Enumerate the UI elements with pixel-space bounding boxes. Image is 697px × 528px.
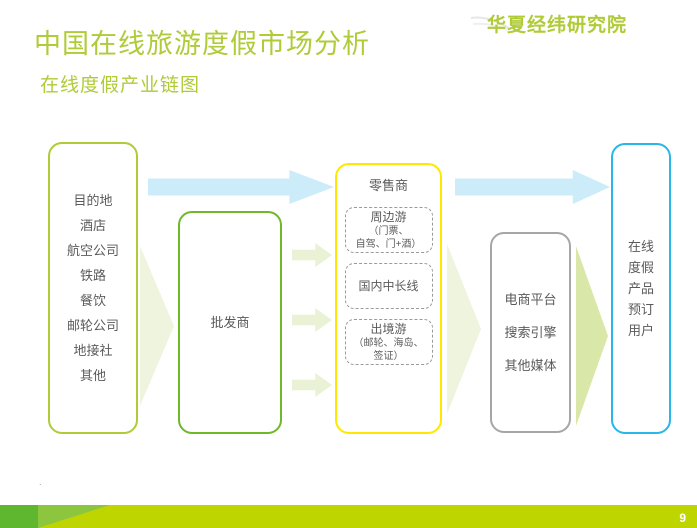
slide-canvas: 中国在线旅游度假市场分析 在线度假产业链图 华夏经纬研究院 目的地 酒店 航空公… bbox=[0, 0, 697, 528]
flow-arrow-retailers-to-users bbox=[455, 170, 610, 204]
chevron-retailers-to-channels-icon bbox=[447, 244, 481, 414]
wholesaler-label: 批发商 bbox=[210, 311, 249, 335]
supplier-item-ground-agency: 地接社 bbox=[73, 338, 112, 363]
retailer-segment-around-trip[interactable]: 周边游 （门票、 自驾、门+酒） bbox=[345, 207, 433, 253]
footer-wedge-dark bbox=[0, 505, 38, 528]
supplier-item-catering: 餐饮 bbox=[80, 288, 106, 313]
user-label-line-5: 用户 bbox=[628, 320, 654, 341]
node-channels[interactable]: 电商平台 搜索引擎 其他媒体 bbox=[490, 232, 571, 433]
arrow-wholesaler-to-outbound-icon bbox=[292, 373, 332, 397]
segment-around-trip-label: 周边游 bbox=[370, 209, 406, 225]
retailer-segment-outbound[interactable]: 出境游 （邮轮、海岛、 签证） bbox=[345, 319, 433, 365]
channel-item-ecommerce-platform: 电商平台 bbox=[504, 283, 556, 316]
user-label-line-4: 预订 bbox=[628, 299, 654, 320]
segment-around-trip-detail-2: 自驾、门+酒） bbox=[356, 238, 422, 251]
brand-logo-text: 华夏经纬研究院 bbox=[487, 10, 627, 37]
user-label-line-1: 在线 bbox=[628, 236, 654, 257]
node-retailers[interactable]: 零售商 周边游 （门票、 自驾、门+酒） 国内中长线 出境游 （邮轮、海岛、 签… bbox=[335, 163, 442, 434]
supplier-item-other: 其他 bbox=[80, 363, 106, 388]
supplier-item-hotel: 酒店 bbox=[80, 213, 106, 238]
retailer-segment-domestic-longhaul[interactable]: 国内中长线 bbox=[345, 263, 433, 309]
retailer-title: 零售商 bbox=[369, 175, 408, 194]
segment-outbound-label: 出境游 bbox=[370, 321, 406, 337]
chevron-channels-to-users-icon bbox=[576, 246, 608, 426]
user-label-line-3: 产品 bbox=[628, 278, 654, 299]
segment-outbound-detail-1: （邮轮、海岛、 bbox=[354, 337, 424, 350]
page-title: 中国在线旅游度假市场分析 bbox=[34, 22, 370, 61]
slide-corner-mark: . bbox=[39, 477, 42, 487]
supplier-item-railway: 铁路 bbox=[80, 263, 106, 288]
supplier-item-cruise: 邮轮公司 bbox=[67, 313, 119, 338]
page-number: 9 bbox=[679, 511, 686, 525]
chevron-suppliers-to-wholesalers-icon bbox=[140, 246, 174, 406]
supplier-item-airline: 航空公司 bbox=[67, 238, 119, 263]
arrow-wholesaler-to-domestic-icon bbox=[292, 308, 332, 332]
channel-item-other-media: 其他媒体 bbox=[504, 349, 556, 382]
supplier-item-destination: 目的地 bbox=[73, 188, 112, 213]
arrow-wholesaler-to-around-trip-icon bbox=[292, 243, 332, 267]
segment-around-trip-detail-1: （门票、 bbox=[369, 225, 409, 238]
segment-domestic-label: 国内中长线 bbox=[358, 278, 418, 294]
node-wholesalers[interactable]: 批发商 bbox=[178, 211, 282, 434]
segment-outbound-detail-2: 签证） bbox=[374, 350, 404, 363]
page-subtitle: 在线度假产业链图 bbox=[40, 70, 200, 97]
channel-item-search-engine: 搜索引擎 bbox=[504, 316, 556, 349]
flow-arrow-suppliers-to-retailers bbox=[148, 170, 334, 204]
user-label-line-2: 度假 bbox=[628, 257, 654, 278]
node-online-vacation-booking-users[interactable]: 在线 度假 产品 预订 用户 bbox=[611, 143, 671, 434]
node-suppliers[interactable]: 目的地 酒店 航空公司 铁路 餐饮 邮轮公司 地接社 其他 bbox=[48, 142, 138, 434]
footer-bar: 9 bbox=[0, 505, 697, 528]
